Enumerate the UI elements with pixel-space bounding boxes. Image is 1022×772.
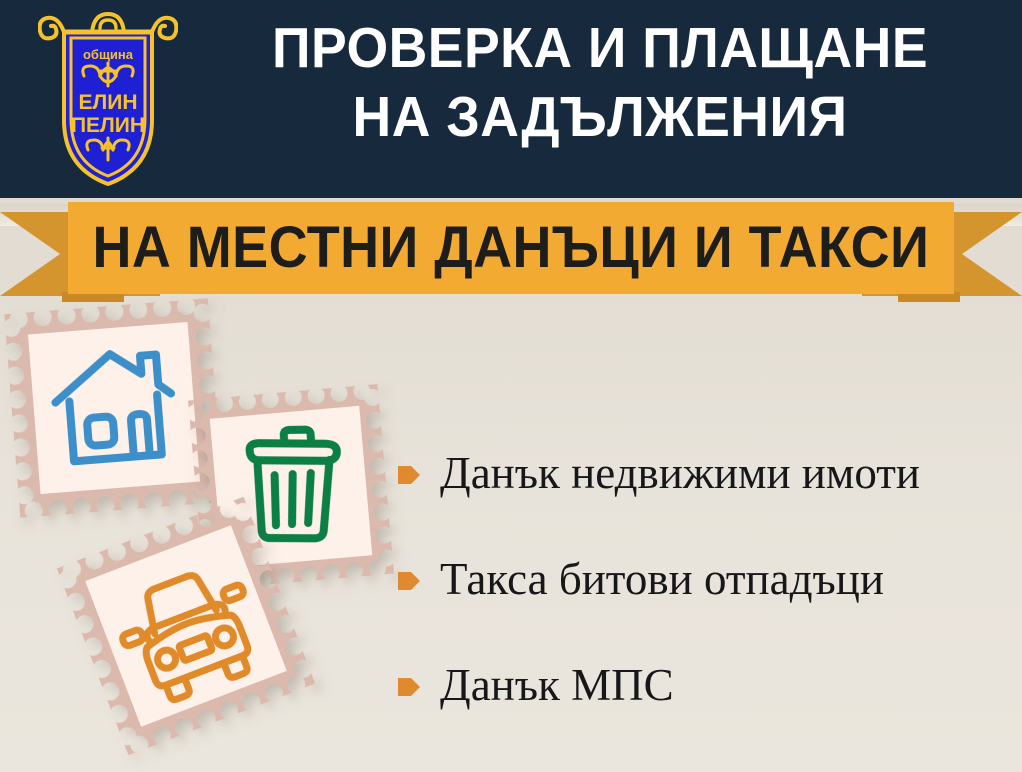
page-title-line-2: НА ЗАДЪЛЖЕНИЯ <box>215 83 986 152</box>
header-banner: община ЕЛИН ПЕЛИН <box>0 0 1022 198</box>
tax-type-list: Данък недвижими имоти Такса битови отпад… <box>398 420 1018 738</box>
list-item[interactable]: Данък недвижими имоти <box>398 420 1018 526</box>
coat-of-arms-icon: община ЕЛИН ПЕЛИН <box>38 8 178 190</box>
poster-root: община ЕЛИН ПЕЛИН <box>0 0 1022 772</box>
stamp-collage <box>0 300 400 770</box>
crest-top-text: община <box>83 47 134 62</box>
tax-item-label: Такса битови отпадъци <box>440 554 884 604</box>
pentagon-arrow-bullet-icon <box>398 674 420 700</box>
page-title-line-1: ПРОВЕРКА И ПЛАЩАНЕ <box>215 14 986 83</box>
list-item[interactable]: Данък МПС <box>398 632 1018 738</box>
list-item[interactable]: Такса битови отпадъци <box>398 526 1018 632</box>
municipality-crest: община ЕЛИН ПЕЛИН <box>38 8 178 190</box>
tax-item-label: Данък МПС <box>440 660 674 710</box>
crest-name-line-1: ЕЛИН <box>78 91 137 114</box>
ribbon-band: НА МЕСТНИ ДАНЪЦИ И ТАКСИ <box>68 202 954 294</box>
stamp-paper <box>28 322 200 494</box>
subtitle-ribbon: НА МЕСТНИ ДАНЪЦИ И ТАКСИ <box>0 196 1022 304</box>
header-title-block: ПРОВЕРКА И ПЛАЩАНЕ НА ЗАДЪЛЖЕНИЯ <box>190 14 1010 152</box>
trash-can-icon <box>245 427 338 542</box>
pentagon-arrow-bullet-icon <box>398 568 420 594</box>
ribbon-label: НА МЕСТНИ ДАНЪЦИ И ТАКСИ <box>93 219 930 277</box>
tax-item-label: Данък недвижими имоти <box>440 448 920 498</box>
pentagon-arrow-bullet-icon <box>398 462 420 488</box>
crest-name-line-2: ПЕЛИН <box>71 114 145 137</box>
